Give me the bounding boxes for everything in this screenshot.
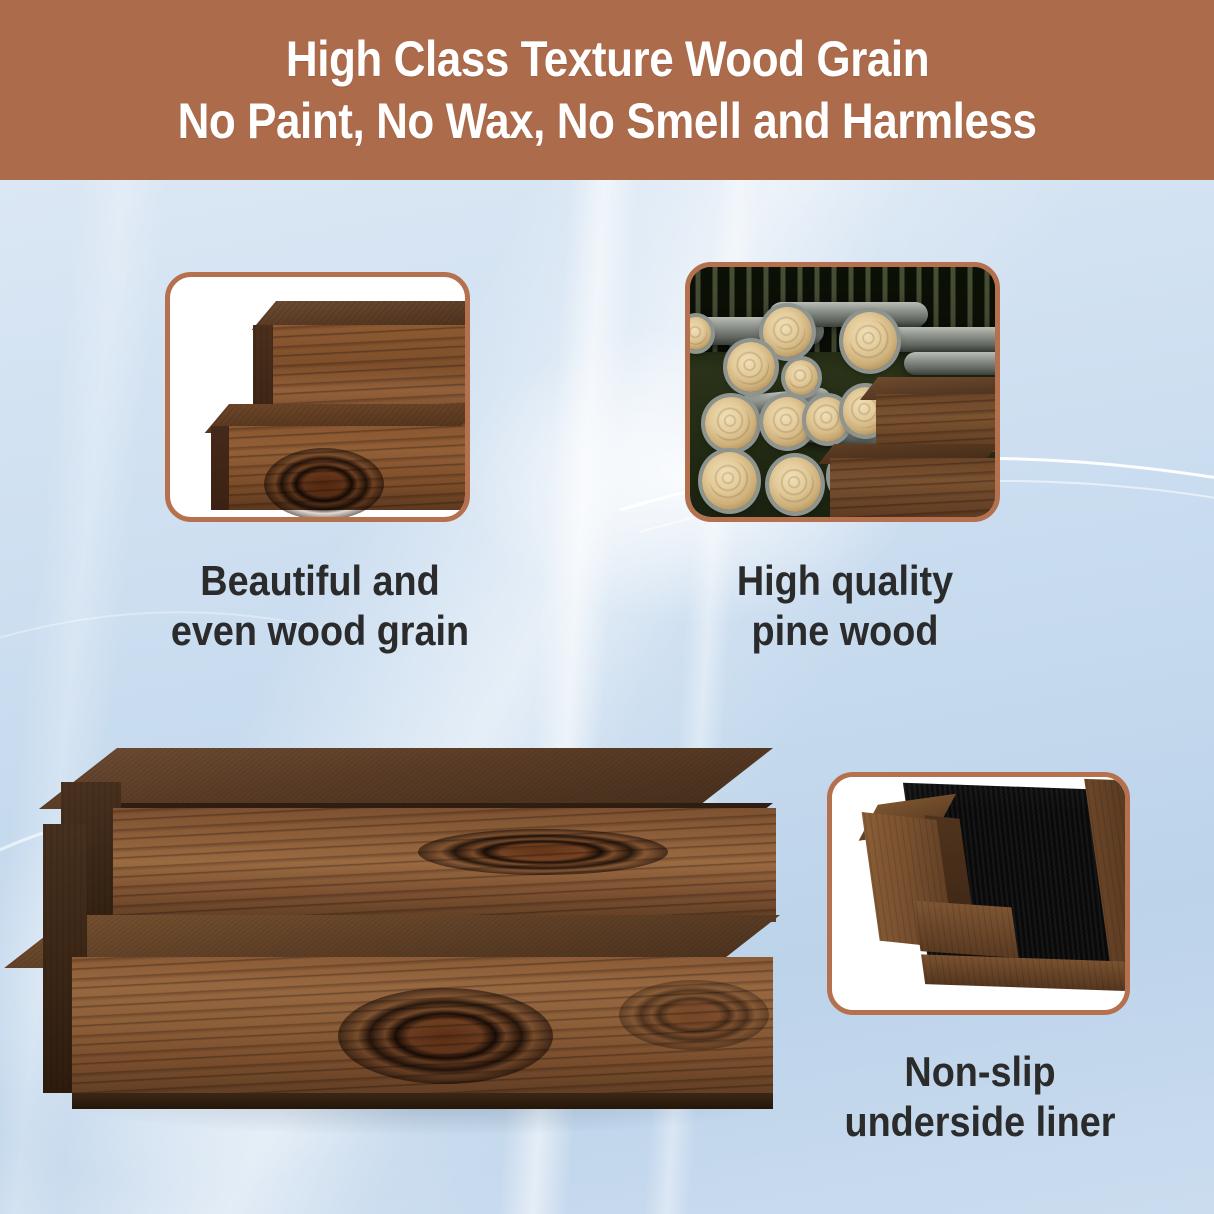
hero-lower-front [72, 957, 772, 1101]
caption-line-2: underside liner [818, 1097, 1142, 1147]
hero-upper-riser [113, 808, 776, 922]
caption-line-1: Beautiful and [158, 556, 482, 606]
caption-line-2: even wood grain [158, 606, 482, 656]
caption-wood-grain: Beautiful and even wood grain [158, 556, 482, 656]
wood-knot [619, 980, 769, 1050]
wood-knot [338, 988, 553, 1084]
log-cut-end [769, 457, 821, 512]
product-feature-page: High Class Texture Wood Grain No Paint, … [0, 0, 1214, 1214]
log-bark [885, 327, 1000, 352]
caption-pine-wood: High quality pine wood [697, 556, 994, 656]
step-product-overlay [830, 377, 1000, 522]
log-cut-end [763, 397, 812, 447]
pine-logs-photo [690, 267, 995, 517]
caption-line-1: High quality [697, 556, 994, 606]
grain-texture [914, 900, 1019, 958]
log-cut-end [785, 360, 819, 395]
banner-title-line-2: No Paint, No Wax, No Smell and Harmless [178, 90, 1037, 152]
caption-line-2: pine wood [697, 606, 994, 656]
step-lower-front [229, 426, 470, 510]
step-front [830, 458, 1000, 522]
hero-product-image [50, 740, 795, 1120]
log-cut-end [843, 312, 898, 370]
non-slip-photo [832, 777, 1125, 1010]
wood-knot [418, 829, 668, 875]
wood-knot [264, 448, 384, 520]
underside-frame-bottom [922, 954, 1130, 992]
grain-texture [830, 458, 1000, 522]
log-cut-end [727, 342, 776, 392]
underside-foot [914, 900, 1019, 958]
hero-bottom-edge [72, 1093, 772, 1108]
log-cut-end [705, 397, 757, 450]
wood-grain-photo [170, 277, 465, 517]
feature-card-non-slip-liner [827, 772, 1130, 1015]
log-cut-end [702, 452, 757, 510]
log-bark [904, 352, 1001, 375]
grain-texture [39, 748, 772, 809]
stool-underside-unit [844, 772, 1130, 1015]
feature-card-wood-grain [165, 272, 470, 522]
grain-texture [922, 954, 1130, 992]
hero-upper-top-surface [39, 748, 772, 809]
caption-non-slip-liner: Non-slip underside liner [818, 1047, 1142, 1147]
caption-line-1: Non-slip [818, 1047, 1142, 1097]
log-cut-end [763, 307, 812, 357]
banner-title-line-1: High Class Texture Wood Grain [285, 28, 928, 90]
header-banner: High Class Texture Wood Grain No Paint, … [0, 0, 1214, 180]
feature-card-pine-wood [685, 262, 1000, 522]
